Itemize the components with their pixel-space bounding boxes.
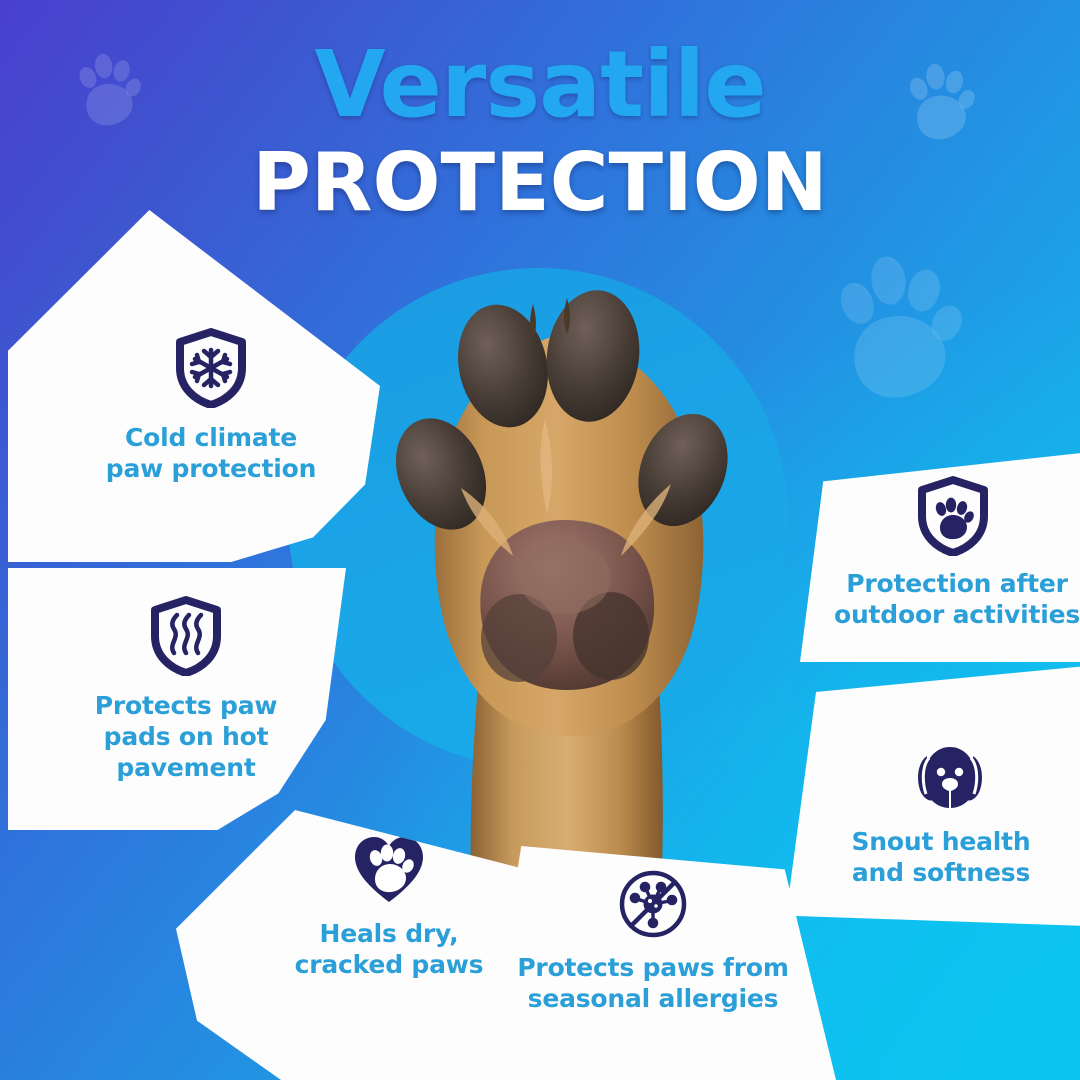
no-allergen-icon xyxy=(617,868,689,938)
feature-card-seasonal-allergies[interactable]: Protects paws from seasonal allergies xyxy=(470,846,836,1080)
feature-card-cold-climate[interactable]: Cold climate paw protection xyxy=(8,210,380,562)
paw-print-decoration-icon xyxy=(826,246,968,406)
feature-card-snout-health[interactable]: Snout health and softness xyxy=(786,666,1080,926)
title-line-main: PROTECTION xyxy=(0,142,1080,224)
feature-card-label: Protects paws from seasonal allergies xyxy=(517,952,788,1014)
shield-heatwave-icon xyxy=(149,596,223,676)
page-title: Versatile PROTECTION xyxy=(0,38,1080,224)
title-line-accent: Versatile xyxy=(0,38,1080,132)
feature-card-label: Cold climate paw protection xyxy=(106,422,316,484)
feature-card-hot-pavement[interactable]: Protects paw pads on hot pavement xyxy=(8,568,346,830)
feature-card-outdoor-activities[interactable]: Protection after outdoor activities xyxy=(800,452,1080,662)
shield-snowflake-icon xyxy=(174,328,248,408)
infographic-canvas: Versatile PROTECTION xyxy=(0,0,1080,1080)
dog-face-icon xyxy=(914,744,986,814)
shield-paw-icon xyxy=(916,476,990,556)
heart-paw-icon xyxy=(353,834,425,904)
feature-card-label: Snout health and softness xyxy=(852,826,1031,888)
feature-card-label: Heals dry, cracked paws xyxy=(295,918,484,980)
feature-card-label: Protection after outdoor activities xyxy=(824,568,1080,630)
feature-card-label: Protects paw pads on hot pavement xyxy=(95,690,278,783)
